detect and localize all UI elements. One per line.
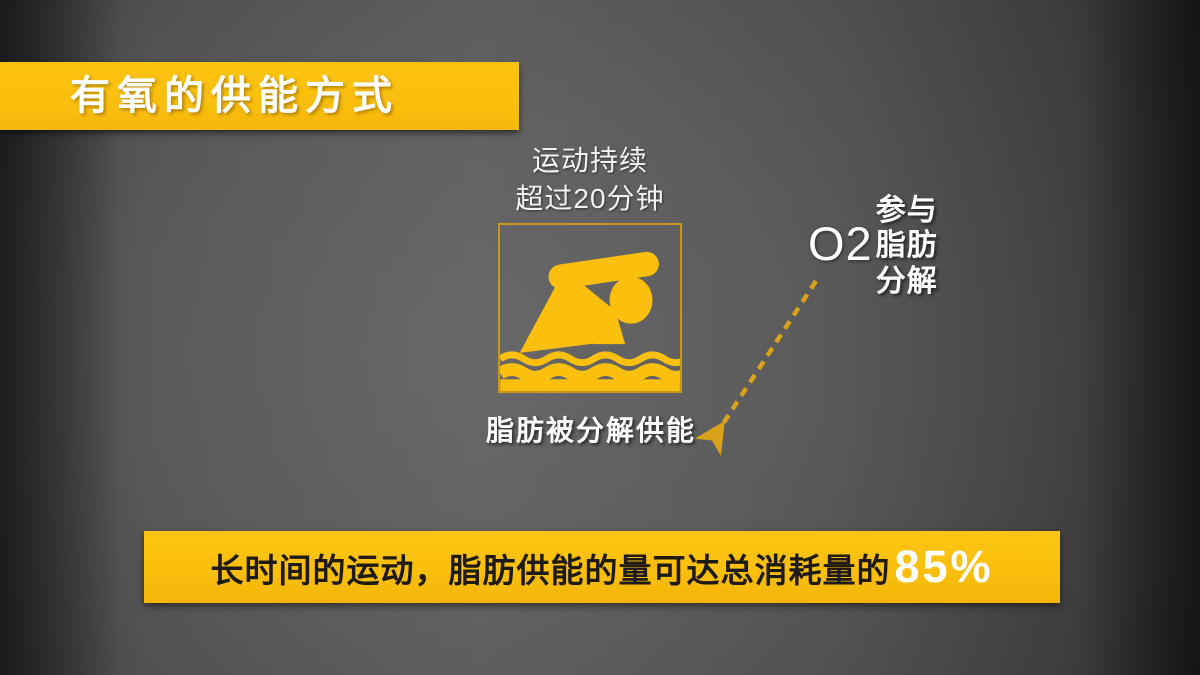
o2-label: O2 [808,220,873,267]
duration-caption-line-1: 运动持续 [429,142,751,180]
fat-breakdown-caption: 脂肪被分解供能 [486,416,696,447]
title-banner: 有氧的供能方式 [0,62,519,130]
summary-banner-percent: 85% [894,541,993,593]
o2-description-line-2: 脂肪 [876,228,938,263]
page-title: 有氧的供能方式 [70,76,399,116]
duration-caption-line-2: 超过20分钟 [429,180,751,218]
o2-description-line-3: 分解 [876,264,938,299]
swimmer-icon-frame [498,223,682,393]
swimmer-icon [500,225,680,391]
o2-annotation-group: O2 参与 脂肪 分解 [808,190,938,299]
o2-description-line-1: 参与 [876,193,938,228]
summary-banner: 长时间的运动，脂肪供能的量可达总消耗量的 85% [144,531,1060,603]
summary-banner-text: 长时间的运动，脂肪供能的量可达总消耗量的 85% [210,541,993,593]
slide-canvas: 有氧的供能方式 运动持续 超过20分钟 [0,0,1200,675]
summary-banner-sentence: 长时间的运动，脂肪供能的量可达总消耗量的 [210,544,890,592]
duration-caption: 运动持续 超过20分钟 [429,142,751,217]
o2-description: 参与 脂肪 分解 [876,193,938,299]
